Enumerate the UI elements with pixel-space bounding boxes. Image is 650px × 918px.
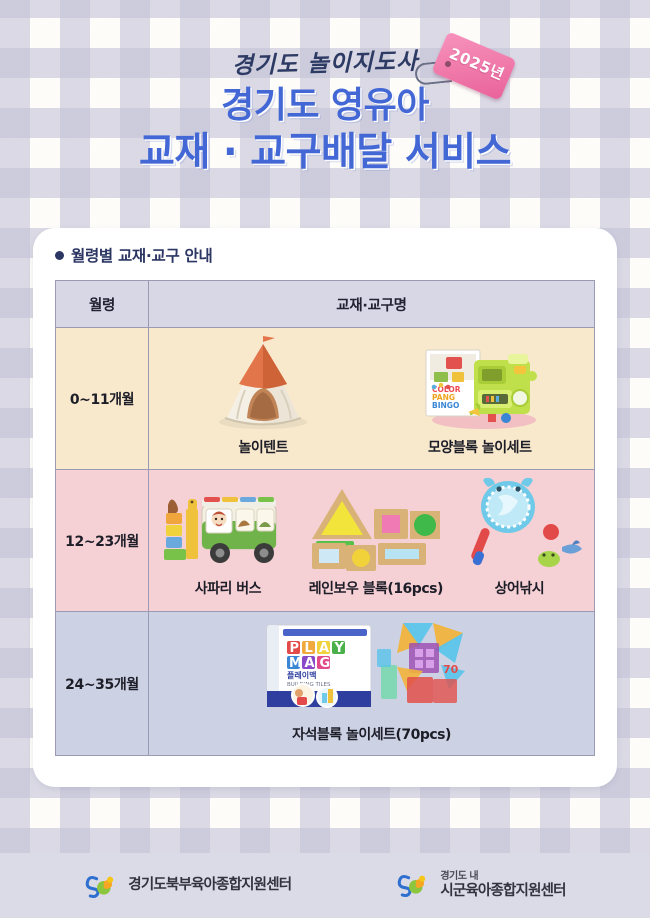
page-title-line1: 경기도 영유아 <box>0 88 650 124</box>
svg-text:70: 70 <box>443 663 459 676</box>
footer-logo-1: 경기도북부육아종합지원센터 <box>84 873 291 899</box>
product-label: 모양블록 놀이세트 <box>428 437 531 457</box>
items-cell-24-35: P L A Y M A G 플레이맥 <box>149 612 595 756</box>
page-title-line2: 교재 · 교구배달 서비스 <box>0 133 650 172</box>
footer-logo-text: 경기도북부육아종합지원센터 <box>128 877 291 893</box>
age-label-12-23: 12~23개월 <box>56 470 149 612</box>
product-item: P L A Y M A G 플레이맥 <box>220 615 523 753</box>
product-item: 놀이텐트 <box>164 332 363 466</box>
table-row: 12~23개월 <box>56 470 595 612</box>
table-head: 월령 교재·교구명 <box>56 281 595 328</box>
content-card: 월령별 교재·교구 안내 월령 교재·교구명 0~11개월 <box>33 228 617 787</box>
scj-logo-icon <box>84 873 120 899</box>
svg-text:A: A <box>304 656 314 671</box>
poster-background: 경기도 놀이지도사 2025년 경기도 영유아 교재 · 교구배달 서비스 월령… <box>0 0 650 918</box>
svg-text:플레이맥: 플레이맥 <box>287 670 316 680</box>
items-cell-0-11: 놀이텐트 <box>149 328 595 470</box>
play-tent-icon <box>164 332 363 432</box>
safari-bus-icon <box>156 475 299 573</box>
svg-text:A: A <box>319 641 329 656</box>
footer-logo-sup: 경기도 내 <box>440 871 565 882</box>
item-list: 사파리 버스 <box>149 475 594 607</box>
svg-text:G: G <box>319 656 330 671</box>
bullet-icon <box>55 251 64 260</box>
svg-text:Y: Y <box>333 641 344 656</box>
table-header-row: 월령 교재·교구명 <box>56 281 595 328</box>
scj-logo-icon <box>396 872 432 898</box>
product-item: 상어낚시 <box>452 475 586 607</box>
product-label: 놀이텐트 <box>238 437 288 457</box>
items-cell-12-23: 사파리 버스 <box>149 470 595 612</box>
age-label-0-11: 0~11개월 <box>56 328 149 470</box>
footer-logo-text: 시군육아종합지원센터 <box>440 883 565 899</box>
section-title: 월령별 교재·교구 안내 <box>71 244 212 266</box>
item-list: 놀이텐트 <box>149 332 594 466</box>
product-label: 레인보우 블록(16pcs) <box>309 578 443 598</box>
svg-text:M: M <box>289 656 302 671</box>
age-label-24-35: 24~35개월 <box>56 612 149 756</box>
product-item: 사파리 버스 <box>156 475 299 607</box>
table-row: 24~35개월 <box>56 612 595 756</box>
poster-header: 경기도 놀이지도사 2025년 경기도 영유아 교재 · 교구배달 서비스 <box>0 0 650 200</box>
col-header-items: 교재·교구명 <box>149 281 595 328</box>
product-label: 자석블록 놀이세트(70pcs) <box>292 724 451 744</box>
shark-fishing-icon <box>452 475 586 573</box>
product-label: 상어낚시 <box>495 578 545 598</box>
rainbow-blocks-icon <box>302 475 449 573</box>
svg-text:L: L <box>304 641 312 656</box>
product-item: COLOR PANG BINGO <box>380 332 579 466</box>
materials-table: 월령 교재·교구명 0~11개월 <box>55 280 595 756</box>
product-item: 레인보우 블록(16pcs) <box>302 475 449 607</box>
item-list: P L A Y M A G 플레이맥 <box>149 615 594 753</box>
script-subtitle: 경기도 놀이지도사 <box>0 36 650 86</box>
svg-text:P: P <box>289 641 299 656</box>
table-row: 0~11개월 <box>56 328 595 470</box>
footer-logo-2: 경기도 내 시군육아종합지원센터 <box>396 871 565 899</box>
col-header-age: 월령 <box>56 281 149 328</box>
section-heading: 월령별 교재·교구 안내 <box>55 244 212 266</box>
poster-footer: 경기도북부육아종합지원센터 경기도 내 시군육아종합지원센터 <box>0 853 650 918</box>
product-label: 사파리 버스 <box>195 578 261 598</box>
footer-logo-group: 경기도 내 시군육아종합지원센터 <box>440 871 565 899</box>
magnetic-blocks-icon: P L A Y M A G 플레이맥 <box>220 615 523 719</box>
shape-block-set-icon: COLOR PANG BINGO <box>380 332 579 432</box>
table-body: 0~11개월 <box>56 328 595 756</box>
svg-text:BINGO: BINGO <box>432 401 459 410</box>
